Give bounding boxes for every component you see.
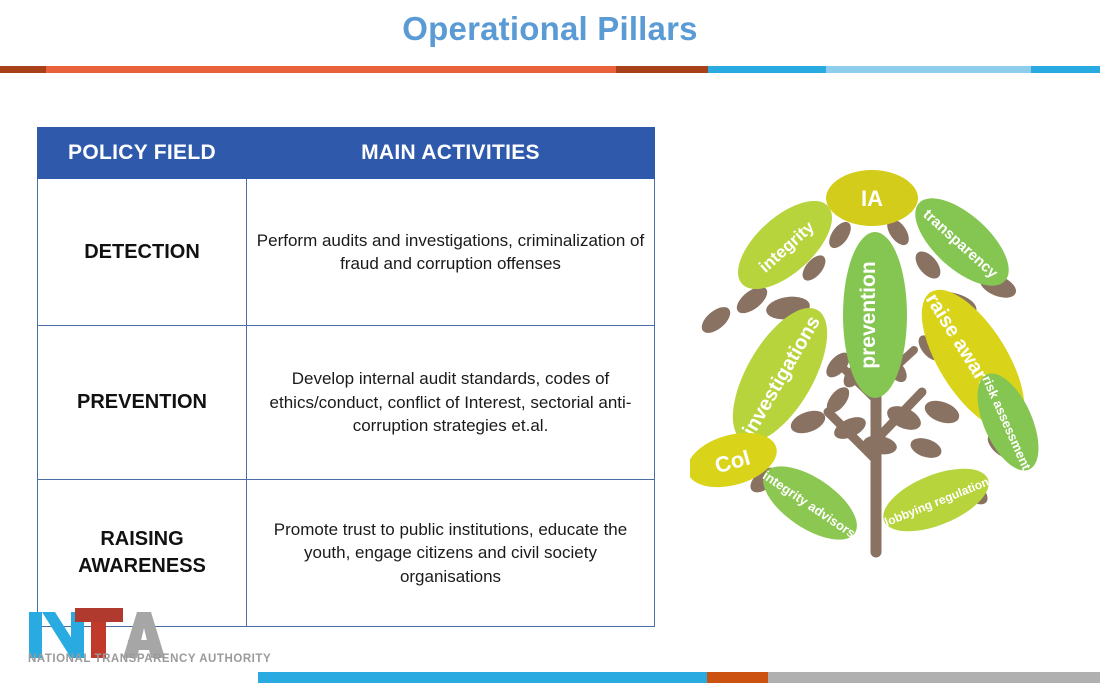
leaf-prevention: prevention (843, 232, 907, 398)
cell-policy-field-prevention: PREVENTION (38, 326, 247, 480)
cell-main-activities-prevention: Develop internal audit standards, codes … (247, 326, 655, 480)
leaf-ia: IA (826, 170, 918, 226)
table-row: DETECTION Perform audits and investigati… (38, 179, 655, 326)
rule-segment-cyan (708, 66, 826, 73)
rule-segment-cyan-right (1031, 66, 1100, 73)
policy-activities-table: POLICY FIELD MAIN ACTIVITIES DETECTION P… (37, 127, 655, 627)
cell-policy-field-detection: DETECTION (38, 179, 247, 326)
leaf-label-ia: IA (861, 186, 883, 211)
anti-corruption-tree-diagram: IA integrity transparency prevention inv… (690, 160, 1070, 580)
bottom-rule-segment-gray (768, 672, 1100, 683)
bottom-decorative-rule (0, 672, 1100, 683)
column-header-main-activities: MAIN ACTIVITIES (247, 128, 655, 179)
leaf-label-prevention: prevention (857, 261, 880, 368)
logo-organization-name: NATIONAL TRANSPARENCY AUTHORITY (28, 653, 271, 665)
leaf-lobbying-regulation: lobbying regulation (875, 456, 998, 544)
table-row: RAISING AWARENESS Promote trust to publi… (38, 480, 655, 627)
rule-segment-dark-orange-mid (616, 66, 708, 73)
rule-segment-light-blue (826, 66, 1031, 73)
page-title: Operational Pillars (0, 10, 1100, 48)
table-header-row: POLICY FIELD MAIN ACTIVITIES (38, 128, 655, 179)
table-row: PREVENTION Develop internal audit standa… (38, 326, 655, 480)
logo-letter-a (123, 612, 165, 658)
rule-segment-dark-orange-left (0, 66, 46, 73)
leaf-integrity-advisors: integrity advisors (751, 452, 869, 554)
cell-main-activities-detection: Perform audits and investigations, crimi… (247, 179, 655, 326)
cell-policy-field-raising-awareness: RAISING AWARENESS (38, 480, 247, 627)
rule-segment-orange (46, 66, 616, 73)
bottom-rule-segment-orange (707, 672, 768, 683)
top-decorative-rule (0, 66, 1100, 73)
bottom-rule-segment-cyan (258, 672, 707, 683)
column-header-policy-field: POLICY FIELD (38, 128, 247, 179)
cell-main-activities-raising-awareness: Promote trust to public institutions, ed… (247, 480, 655, 627)
